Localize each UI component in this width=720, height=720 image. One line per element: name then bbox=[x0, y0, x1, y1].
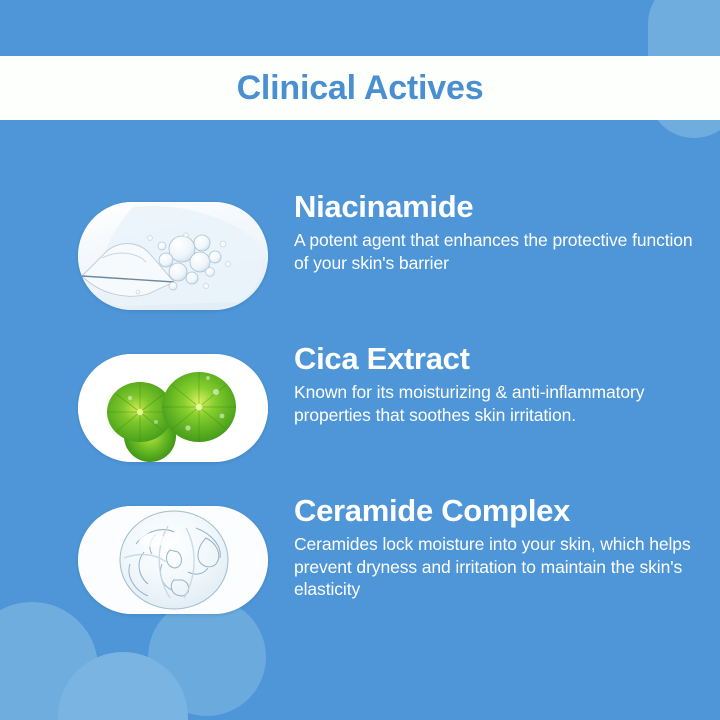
ingredient-name: Ceramide Complex bbox=[294, 494, 704, 527]
page-title: Clinical Actives bbox=[237, 71, 484, 105]
ingredient-list: Niacinamide A potent agent that enhances… bbox=[0, 190, 720, 646]
ingredient-image-card bbox=[78, 354, 268, 462]
ingredient-name: Niacinamide bbox=[294, 190, 704, 223]
ingredient-text: Ceramide Complex Ceramides lock moisture… bbox=[268, 494, 720, 601]
serum-bubbles-spatula-icon bbox=[78, 202, 268, 310]
ingredient-name: Cica Extract bbox=[294, 342, 704, 375]
decorative-circle-bottom-left-b bbox=[58, 652, 188, 720]
ingredient-description: Ceramides lock moisture into your skin, … bbox=[294, 533, 704, 600]
ingredient-description: A potent agent that enhances the protect… bbox=[294, 229, 704, 274]
ingredient-row: Niacinamide A potent agent that enhances… bbox=[0, 190, 720, 310]
ingredient-description: Known for its moisturizing & anti-inflam… bbox=[294, 381, 704, 426]
ingredient-text: Cica Extract Known for its moisturizing … bbox=[268, 342, 720, 426]
ingredient-text: Niacinamide A potent agent that enhances… bbox=[268, 190, 720, 274]
clear-gel-blob-icon bbox=[78, 506, 268, 614]
ingredient-image-card bbox=[78, 202, 268, 310]
infographic-poster: Clinical Actives bbox=[0, 0, 720, 720]
ingredient-row: Cica Extract Known for its moisturizing … bbox=[0, 342, 720, 462]
title-banner: Clinical Actives bbox=[0, 56, 720, 120]
centella-green-leaves-icon bbox=[78, 354, 268, 462]
ingredient-row: Ceramide Complex Ceramides lock moisture… bbox=[0, 494, 720, 614]
ingredient-image-card bbox=[78, 506, 268, 614]
